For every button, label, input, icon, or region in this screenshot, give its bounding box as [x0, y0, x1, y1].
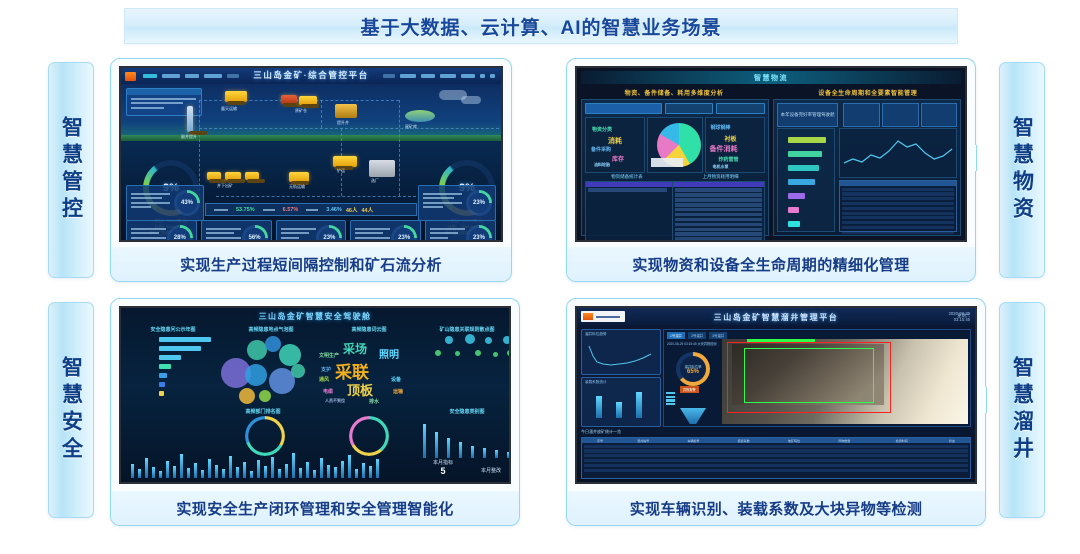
bubble — [265, 336, 281, 352]
kpi-donut: 23% — [466, 190, 492, 216]
wordcloud-word: 支护 — [321, 366, 331, 373]
camera-tab[interactable]: 3号溜井 — [709, 332, 727, 339]
point — [455, 351, 460, 356]
materials-pane: 物资分类 消耗 备件采购 库存 油料轮胎 钢球钢棒 衬板 备件消耗 — [581, 99, 769, 236]
bar — [636, 392, 642, 418]
cloud-icon — [461, 96, 481, 104]
side-label-top-right: 智慧物资 — [999, 62, 1045, 278]
scene-tag: 副井提升 — [181, 134, 197, 140]
side-label-text: 智慧溜井 — [1010, 356, 1033, 464]
safety-bar-chart — [135, 335, 213, 397]
camera-caption: 2020-08-29 03:15:45 大块异物检测 — [667, 341, 717, 346]
scene-tag: 提升井 — [337, 120, 349, 126]
side-label-text: 智慧安全 — [59, 356, 82, 464]
bar — [159, 364, 171, 369]
equipment-detail-table[interactable] — [839, 180, 957, 232]
kpi-donut: 23% — [391, 225, 417, 242]
dashboard-screenshot-smart-logistics: 智慧物流 物资、备件储备、耗用多维度分析 设备全生命周期和全要素智能管理 物资分… — [575, 66, 967, 242]
bar — [447, 438, 450, 458]
ore-pile-icon — [245, 172, 259, 180]
bar — [788, 137, 826, 143]
bar — [788, 179, 815, 185]
card-caption-text: 实现生产过程短间隔控制和矿石流分析 — [180, 254, 442, 275]
wordcloud-word: 运输 — [393, 388, 403, 395]
wordcloud-word: 照明 — [379, 346, 399, 361]
wordcloud-word: 通风 — [319, 376, 329, 383]
footer-metric-1: 本月指标 5 — [433, 459, 453, 476]
safety-trend-bars — [131, 448, 399, 478]
nav-item[interactable] — [204, 74, 222, 78]
table-row — [584, 459, 968, 462]
equipment-kpi-card[interactable] — [882, 103, 919, 127]
kpi-donut: 43% — [174, 190, 200, 216]
camera-tab[interactable]: 1号溜井 — [667, 332, 685, 339]
scene-tag: 铲运 — [337, 168, 345, 174]
bar — [459, 442, 462, 458]
safety-scatter-chart — [421, 334, 511, 400]
bar — [423, 424, 426, 458]
dashboard-title: 三山岛金矿智慧溜井管理平台 — [714, 312, 839, 323]
footer-value: 5 — [433, 466, 453, 476]
donut-value: 65% — [687, 369, 699, 375]
safety-wordcloud: 采场 采联 照明 顶板 文明生产 支护 通风 电缆 设备 运输 排水 人员不到位 — [317, 332, 421, 408]
tailings-pond-icon — [405, 110, 435, 122]
kpi-donut: 56% — [242, 225, 268, 242]
wordcloud-word: 采场 — [343, 340, 367, 357]
side-label-text: 智慧物资 — [1010, 116, 1033, 224]
table-row — [584, 464, 968, 467]
hazard-column-chart — [419, 416, 511, 458]
point — [465, 334, 475, 344]
flow-line — [199, 100, 200, 196]
kpi-value: 23% — [316, 225, 342, 242]
table-header-cell: 车辆编号 — [668, 439, 718, 443]
dashboard-screenshot-smart-orepass: 三山岛金矿智慧溜井管理平台 2020-08-29 03:15:45 星期六 溜井… — [575, 306, 977, 484]
equipment-pane: 本年设备完好率管理驾驶舱 — [773, 99, 961, 236]
scenario-card-smart-orepass[interactable]: 三山岛金矿智慧溜井管理平台 2020-08-29 03:15:45 星期六 溜井… — [566, 298, 986, 526]
scene-tag: 选厂 — [371, 178, 379, 184]
section-title-materials: 物资、备件储备、耗用多维度分析 — [581, 87, 767, 97]
nav-item[interactable] — [383, 74, 395, 78]
dashboard-title: 智慧物流 — [581, 71, 961, 84]
loading-coefficient-panel: 装载系数统计 — [581, 377, 661, 427]
card-notch — [110, 387, 116, 413]
fullscreen-icon[interactable] — [490, 74, 495, 78]
weekday-text: 星期六 — [957, 313, 970, 319]
ore-pile-icon — [225, 172, 241, 180]
ore-pile-icon — [299, 96, 317, 105]
orepass-level-trend-panel: 溜井料位趋势 — [581, 329, 661, 375]
panel-title: 安全隐患问公示年图 — [129, 326, 217, 333]
table-title: 上月物资耗用明细 — [676, 174, 765, 180]
bubble — [247, 340, 267, 360]
slide-root: 基于大数据、云计算、AI的智慧业务场景 智慧管控 智慧物资 智慧安全 智慧溜井 — [0, 0, 1080, 554]
table-header-cell: 放矿吨位 — [769, 439, 819, 443]
panel-title: 高频隐患地点气泡图 — [225, 326, 317, 333]
kpi-donut: 28% — [167, 225, 193, 242]
wordcloud-materials: 物资分类 消耗 备件采购 库存 油料轮胎 — [585, 117, 645, 173]
table-title: 物资储备统计表 — [585, 174, 669, 180]
loader-icon — [281, 95, 297, 104]
dashboard-topbar: 三山岛金矿·综合管控平台 — [121, 68, 501, 84]
nav-menu[interactable] — [143, 74, 239, 78]
settings-icon[interactable] — [480, 74, 485, 78]
strip-value: 46人 — [346, 206, 358, 214]
kpi-donut: 23% — [316, 225, 342, 242]
panel-title: 安全隐患类别图 — [421, 408, 511, 415]
flow-line — [399, 100, 400, 196]
kpi-tile[interactable]: 23% — [350, 220, 421, 242]
scene-tag: 露天运输 — [221, 106, 237, 112]
materials-table[interactable] — [585, 181, 673, 242]
legend — [666, 392, 675, 405]
haul-truck-icon — [289, 172, 309, 182]
bar — [495, 450, 498, 458]
orepass-funnel-icon — [680, 408, 706, 424]
card-caption-text: 实现安全生产闭环管理和安全管理智能化 — [176, 498, 453, 519]
haul-truck-icon — [225, 91, 247, 102]
footer-label: 本月整改 — [481, 467, 501, 474]
side-label-top-left: 智慧管控 — [48, 62, 94, 278]
bar — [471, 446, 474, 458]
panel-title: 高频部门排名图 — [217, 408, 309, 415]
bar — [507, 452, 510, 458]
card-notch — [981, 387, 987, 413]
bubble — [259, 390, 271, 402]
nav-item[interactable] — [440, 74, 456, 78]
dashboard-screenshot-smart-safety: 三山岛金矿智慧安全驾驶舱 安全隐患问公示年图 高频隐患地点气泡图 高频隐患词云图… — [119, 306, 511, 484]
nav-menu-right[interactable] — [383, 74, 495, 78]
strip-value: 44人 — [362, 206, 374, 214]
point — [485, 337, 492, 344]
scenario-card-smart-safety[interactable]: 三山岛金矿智慧安全驾驶舱 安全隐患问公示年图 高频隐患地点气泡图 高频隐患词云图… — [110, 298, 520, 526]
point — [503, 336, 511, 344]
card-caption: 实现生产过程短间隔控制和矿石流分析 — [111, 247, 511, 281]
scenario-card-smart-logistics[interactable]: 智慧物流 物资、备件储备、耗用多维度分析 设备全生命周期和全要素智能管理 物资分… — [566, 58, 976, 282]
page-title-banner: 基于大数据、云计算、AI的智慧业务场景 — [124, 8, 958, 44]
bar — [788, 151, 823, 157]
nav-item[interactable] — [143, 74, 157, 78]
side-label-text: 智慧管控 — [59, 116, 82, 224]
bubble — [245, 364, 267, 386]
kpi-tile[interactable]: 23% — [276, 220, 347, 242]
card-notch — [110, 145, 116, 171]
equipment-bar-chart — [777, 128, 835, 232]
bar — [159, 391, 164, 396]
pie-tooltip — [651, 158, 683, 167]
bar — [159, 382, 165, 387]
shaft-icon — [187, 106, 193, 132]
camera-area: 1号溜井 2号溜井 3号溜井 2020-08-29 03:15:45 大块异物检… — [663, 329, 971, 427]
kpi-tile[interactable]: 28% — [126, 220, 197, 242]
bubble — [291, 364, 305, 378]
nav-item[interactable] — [461, 74, 475, 78]
kpi-tile[interactable]: 56% — [201, 220, 272, 242]
footer-label: 本月指标 — [433, 459, 453, 466]
camera-tab-row[interactable]: 1号溜井 2号溜井 3号溜井 — [667, 332, 727, 339]
bubble — [239, 388, 255, 404]
equipment-kpi-label: 本年设备完好率管理驾驶舱 — [777, 103, 839, 127]
trend-line-icon — [585, 342, 657, 368]
table-header-cell: 异物数量 — [819, 439, 869, 443]
consumption-table[interactable] — [672, 181, 765, 242]
card-caption: 实现安全生产闭环管理和安全管理智能化 — [111, 491, 519, 525]
table-row — [584, 445, 968, 448]
equipment-trend-chart — [839, 128, 957, 178]
bar — [435, 432, 438, 458]
scenario-card-smart-control[interactable]: 三山岛金矿·综合管控平台 — [110, 58, 512, 282]
wordcloud-word: 文明生产 — [319, 352, 339, 359]
table-row — [584, 469, 968, 472]
table-header-cell: 溜井编号 — [618, 439, 668, 443]
bar — [788, 207, 799, 213]
kpi-donut: 23% — [466, 225, 492, 242]
card-caption-text: 实现物资和设备全生命周期的精细化管理 — [632, 254, 909, 275]
kpi-value: 56% — [242, 225, 268, 242]
panel-title: 矿山隐患关联规则散点图 — [421, 326, 511, 333]
table-row — [584, 454, 968, 457]
table-row — [584, 449, 968, 452]
point — [507, 350, 511, 356]
bar — [159, 355, 181, 360]
scene-tag: 尾矿库 — [405, 124, 417, 130]
filter-button[interactable] — [716, 103, 765, 114]
scene-tag: 原矿仓 — [295, 108, 307, 114]
panel-title: 装载系数统计 — [585, 380, 607, 385]
kpi-value: 43% — [174, 190, 200, 216]
side-label-bottom-right: 智慧溜井 — [999, 302, 1045, 518]
page-title: 基于大数据、云计算、AI的智慧业务场景 — [360, 13, 721, 40]
kpi-value: 23% — [391, 225, 417, 242]
wordcloud-word: 排水 — [369, 398, 379, 405]
detection-box-loading-area — [744, 348, 874, 403]
nav-item[interactable] — [227, 74, 239, 78]
strip-value: 53.75% — [236, 207, 255, 213]
flow-line — [321, 100, 322, 128]
strip-value: 6.57% — [283, 207, 299, 213]
equipment-kpi-card[interactable] — [921, 103, 957, 127]
kpi-strip: 53.75% 6.57% 3.46% 46人 44人 — [205, 203, 417, 216]
filter-button-row[interactable] — [585, 103, 765, 114]
table-header-cell: 状态 — [934, 439, 970, 443]
card-caption-text: 实现车辆识别、装载系数及大块异物等检测 — [630, 498, 923, 519]
dashboard-title: 三山岛金矿·综合管控平台 — [253, 69, 369, 81]
mine-cart-icon — [335, 104, 357, 118]
bar — [616, 402, 622, 418]
trend-line-icon — [840, 129, 956, 177]
kpi-tile[interactable]: 23% — [418, 185, 496, 221]
company-logo-icon — [581, 311, 625, 322]
bar — [788, 221, 800, 227]
camera-feed[interactable] — [722, 339, 968, 424]
orepass-records-table[interactable]: 序号 溜井编号 车辆编号 装载系数 放矿吨位 异物数量 检测时间 状态 — [581, 437, 971, 479]
filter-button[interactable] — [585, 103, 662, 114]
wordcloud-word: 电缆 — [323, 388, 333, 395]
section-title-equipment: 设备全生命周期和全要素智能管理 — [775, 87, 961, 97]
bar — [788, 193, 805, 199]
kpi-value: 23% — [466, 225, 492, 242]
dashboard-title: 三山岛金矿智慧安全驾驶舱 — [121, 311, 509, 322]
nav-item[interactable] — [400, 74, 416, 78]
point — [493, 352, 498, 357]
company-logo-icon — [125, 72, 136, 81]
wordcloud-parts: 钢球钢棒 衬板 备件消耗 炸药雷管 电机水泵 — [705, 117, 765, 173]
orepass-level-donut: 溜井料位率 65% — [676, 352, 710, 386]
bar — [483, 448, 486, 458]
wordcloud-word: 顶板 — [347, 380, 373, 399]
camera-tab[interactable]: 2号溜井 — [688, 332, 706, 339]
scraper-icon — [333, 156, 357, 167]
alert-badge: 异物报警 — [680, 386, 699, 393]
nav-item[interactable] — [185, 74, 199, 78]
pie-chart-panel — [647, 117, 703, 173]
kpi-value: 23% — [466, 190, 492, 216]
wordcloud-word: 设备 — [391, 376, 401, 383]
side-label-bottom-left: 智慧安全 — [48, 302, 94, 518]
ore-pile-icon — [207, 172, 221, 180]
point — [435, 350, 441, 356]
bar — [596, 396, 602, 418]
flow-line — [199, 128, 499, 129]
bubble — [279, 344, 301, 366]
bar — [159, 346, 201, 351]
bar — [159, 373, 167, 378]
point — [475, 350, 481, 356]
table-header-cell: 检测时间 — [869, 439, 934, 443]
panel-title: 溜井料位趋势 — [585, 332, 607, 337]
equipment-kpi-card[interactable] — [843, 103, 880, 127]
card-notch — [971, 145, 977, 171]
nav-item[interactable] — [421, 74, 435, 78]
nav-item[interactable] — [162, 74, 180, 78]
card-caption: 实现车辆识别、装载系数及大块异物等检测 — [567, 491, 985, 525]
filter-button[interactable] — [665, 103, 714, 114]
bar — [788, 165, 819, 171]
safety-bubble-chart — [221, 334, 317, 406]
strip-value: 3.46% — [326, 207, 342, 213]
point — [445, 336, 453, 344]
wordcloud-word: 人员不到位 — [325, 398, 345, 404]
table-header-cell: 序号 — [582, 439, 618, 443]
bar — [159, 337, 211, 342]
kpi-tile[interactable]: 43% — [126, 185, 204, 221]
card-caption: 实现物资和设备全生命周期的精细化管理 — [567, 247, 975, 281]
kpi-value: 28% — [167, 225, 193, 242]
kpi-tile[interactable]: 23% — [425, 220, 496, 242]
dashboard-screenshot-smart-control: 三山岛金矿·综合管控平台 — [119, 66, 503, 242]
processing-plant-icon — [369, 160, 395, 177]
table-header-cell: 装载系数 — [719, 439, 769, 443]
table-title: 今日溜井放矿统计一览 — [581, 429, 621, 435]
